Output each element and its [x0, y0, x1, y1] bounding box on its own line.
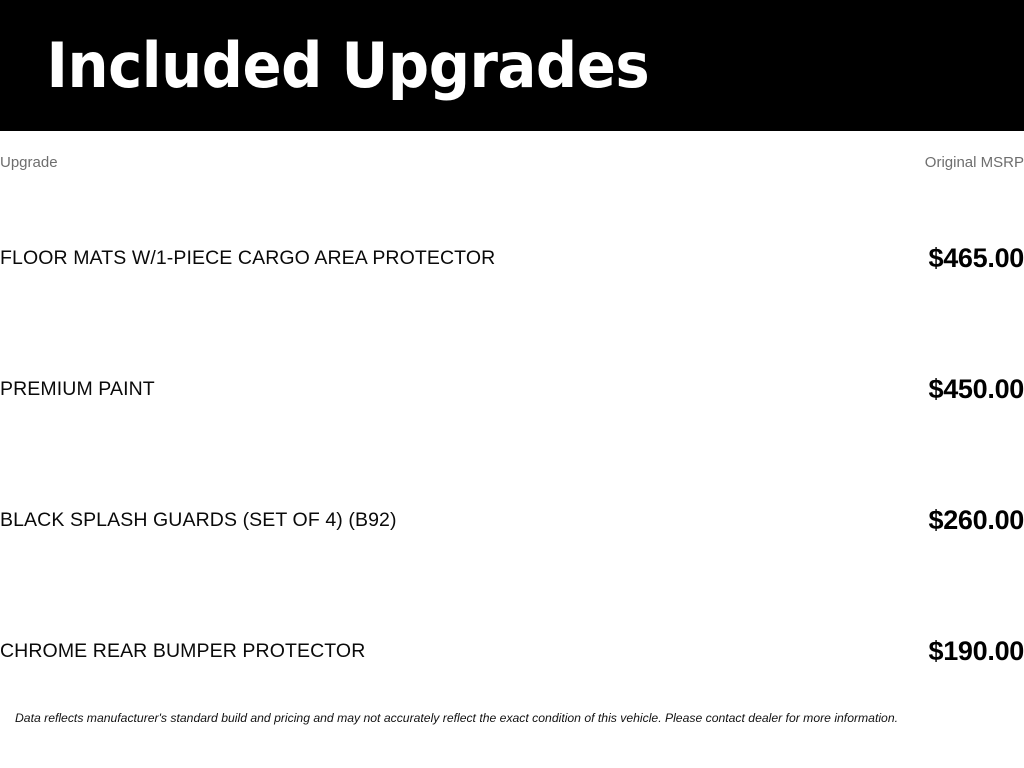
upgrade-name: PREMIUM PAINT — [0, 324, 700, 455]
table-row: FLOOR MATS W/1-PIECE CARGO AREA PROTECTO… — [0, 193, 1024, 324]
title-banner: Included Upgrades — [0, 0, 1024, 131]
upgrade-price: $450.00 — [700, 324, 1024, 455]
column-header-original-msrp: Original MSRP — [700, 131, 1024, 193]
table-body: FLOOR MATS W/1-PIECE CARGO AREA PROTECTO… — [0, 193, 1024, 717]
column-header-upgrade: Upgrade — [0, 131, 700, 193]
upgrade-price: $465.00 — [700, 193, 1024, 324]
upgrade-name: CHROME REAR BUMPER PROTECTOR — [0, 586, 700, 717]
upgrade-price: $260.00 — [700, 455, 1024, 586]
upgrade-price: $190.00 — [700, 586, 1024, 717]
upgrade-name: BLACK SPLASH GUARDS (SET OF 4) (B92) — [0, 455, 700, 586]
upgrades-table: Upgrade Original MSRP FLOOR MATS W/1-PIE… — [0, 131, 1024, 717]
included-upgrades-page: Included Upgrades Upgrade Original MSRP … — [0, 0, 1024, 768]
disclaimer-text: Data reflects manufacturer's standard bu… — [15, 711, 1009, 726]
table-row: PREMIUM PAINT $450.00 — [0, 324, 1024, 455]
table-header: Upgrade Original MSRP — [0, 131, 1024, 193]
page-title: Included Upgrades — [0, 35, 649, 97]
table-row: CHROME REAR BUMPER PROTECTOR $190.00 — [0, 586, 1024, 717]
table-header-row: Upgrade Original MSRP — [0, 131, 1024, 193]
table-row: BLACK SPLASH GUARDS (SET OF 4) (B92) $26… — [0, 455, 1024, 586]
upgrade-name: FLOOR MATS W/1-PIECE CARGO AREA PROTECTO… — [0, 193, 700, 324]
